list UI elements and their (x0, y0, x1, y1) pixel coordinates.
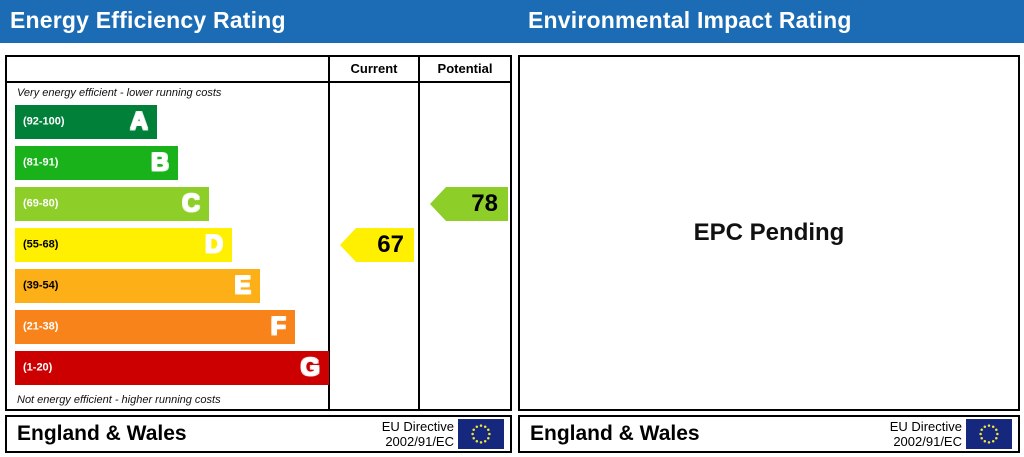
column-header-current: Current (328, 57, 418, 81)
band-letter-f: F (271, 315, 286, 340)
current-rating-marker: 67 (340, 228, 414, 262)
rating-table-header: Current Potential (7, 57, 510, 83)
caption-not-efficient: Not energy efficient - higher running co… (17, 394, 221, 406)
band-letter-b: B (151, 151, 169, 176)
efficiency-band-d: (55-68)D (15, 228, 232, 262)
band-range-f: (21-38) (23, 322, 58, 333)
band-letter-e: E (234, 274, 251, 299)
environmental-impact-panel: EPC Pending (518, 55, 1020, 411)
eu-flag-icon-left (458, 419, 504, 449)
column-divider-potential (418, 83, 420, 411)
band-range-e: (39-54) (23, 281, 58, 292)
band-letter-c: C (182, 192, 200, 217)
footer-region-label-right: England & Wales (530, 422, 700, 446)
band-range-b: (81-91) (23, 158, 58, 169)
eu-flag-icon-right (966, 419, 1012, 449)
band-range-a: (92-100) (23, 117, 65, 128)
column-header-potential: Potential (418, 57, 510, 81)
band-letter-a: A (130, 110, 148, 135)
efficiency-band-a: (92-100)A (15, 105, 157, 139)
directive-line-1: EU Directive (890, 419, 962, 434)
environmental-impact-footer: England & Wales EU Directive 2002/91/EC (518, 415, 1020, 453)
footer-region-label-left: England & Wales (17, 422, 187, 446)
footer-directive-left: EU Directive 2002/91/EC (382, 419, 454, 449)
caption-very-efficient: Very energy efficient - lower running co… (17, 87, 221, 99)
directive-line-1: EU Directive (382, 419, 454, 434)
efficiency-band-g: (1-20)G (15, 351, 329, 385)
energy-efficiency-panel: Current Potential Very energy efficient … (5, 55, 512, 411)
footer-directive-right: EU Directive 2002/91/EC (890, 419, 962, 449)
directive-line-2: 2002/91/EC (382, 434, 454, 449)
epc-chart-page: Energy Efficiency Rating Current Potenti… (0, 0, 1024, 457)
energy-efficiency-footer: England & Wales EU Directive 2002/91/EC (5, 415, 512, 453)
efficiency-band-b: (81-91)B (15, 146, 178, 180)
band-range-d: (55-68) (23, 240, 58, 251)
efficiency-band-e: (39-54)E (15, 269, 260, 303)
epc-pending-message: EPC Pending (520, 57, 1018, 409)
rating-table-body: Very energy efficient - lower running co… (7, 83, 510, 411)
efficiency-band-f: (21-38)F (15, 310, 295, 344)
band-range-c: (69-80) (23, 199, 58, 210)
environmental-impact-title: Environmental Impact Rating (528, 7, 852, 34)
energy-efficiency-title: Energy Efficiency Rating (10, 7, 286, 34)
band-range-g: (1-20) (23, 363, 52, 374)
directive-line-2: 2002/91/EC (890, 434, 962, 449)
band-letter-d: D (205, 233, 223, 258)
efficiency-band-c: (69-80)C (15, 187, 209, 221)
potential-rating-marker: 78 (430, 187, 508, 221)
band-letter-g: G (301, 356, 320, 381)
